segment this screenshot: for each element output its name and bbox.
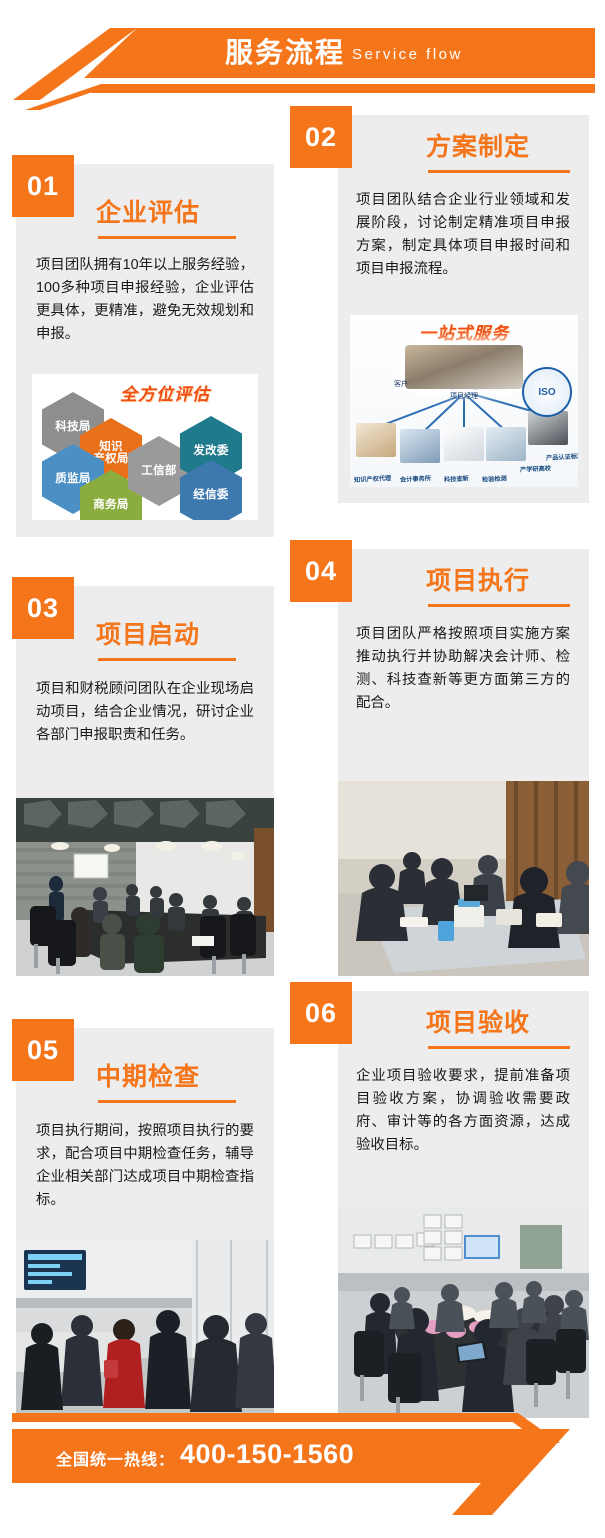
card-body-05: 项目执行期间，按照项目执行的要求，配合项目中期检查任务，辅导企业相关部门达成项目… [36, 1120, 254, 1212]
meeting-room-photo-03 [16, 798, 274, 976]
page-subtitle: Service flow [352, 45, 463, 65]
page-title: 服务流程 [225, 36, 345, 70]
process-card-02: 02 方案制定 项目团队结合企业行业领域和发展阶段，讨论制定精准项目申报方案，制… [338, 115, 589, 503]
service-label-customer: 客户 [394, 379, 408, 389]
service-node-search [444, 427, 484, 461]
service-diagram: 一站式服务 客户 项目经理 ISO 知识产权代理 会计事务所 科技查新 检验检测… [350, 315, 578, 487]
card-photo-06 [338, 1207, 589, 1418]
card-art-01: 全方位评估 科技局 知识 产权局 质监局 商务局 工信部 发改委 经信委 [32, 374, 258, 520]
card-title-01: 企业评估 [96, 198, 200, 228]
card-photo-04 [338, 781, 589, 976]
card-photo-05 [16, 1240, 274, 1418]
iso-seal-icon: ISO [522, 367, 572, 417]
infographic-page: 服务流程 Service flow 01 企业评估 项目团队拥有10年以上服务经… [0, 0, 605, 1538]
card-title-rule-01 [98, 236, 236, 239]
service-diagram-title: 一站式服务 [419, 319, 509, 344]
card-art-02: 一站式服务 客户 项目经理 ISO 知识产权代理 会计事务所 科技查新 检验检测… [350, 315, 578, 487]
hexagon-chart-title: 全方位评估 [120, 380, 210, 405]
service-node-accounting [400, 429, 440, 463]
process-card-03: 03 项目启动 项目和财税顾问团队在企业现场启动项目，结合企业情况，研讨企业各部… [16, 586, 274, 976]
service-foot-label-4: 检验检测 [482, 473, 507, 483]
hexagon-label: 质监局 [55, 473, 90, 486]
boardroom-photo-06 [338, 1207, 589, 1418]
card-title-05: 中期检查 [96, 1062, 200, 1092]
page-header: 服务流程 Service flow [0, 0, 605, 100]
service-foot-label-1: 知识产权代理 [354, 473, 392, 484]
hexagon-label: 经信委 [193, 489, 228, 502]
service-node-ip [356, 423, 396, 457]
service-foot-label-6: 产品认证标准 [546, 451, 578, 462]
card-body-03: 项目和财税顾问团队在企业现场启动项目，结合企业情况，研讨企业各部门申报职责和任务… [36, 678, 254, 747]
hotline-phone-number[interactable]: 400-150-1560 [180, 1439, 354, 1470]
hexagon-label: 发改委 [193, 445, 228, 458]
card-title-rule-04 [428, 604, 570, 607]
hexagon-label: 工信部 [141, 465, 176, 478]
service-foot-label-3: 科技查新 [444, 473, 469, 483]
process-card-06: 06 项目验收 企业项目验收要求，提前准备项目验收方案，协调验收需要政府、审计等… [338, 991, 589, 1418]
card-title-04: 项目执行 [426, 566, 530, 596]
process-card-01: 01 企业评估 项目团队拥有10年以上服务经验，100多种项目申报经验，企业评估… [16, 164, 274, 537]
card-number-badge-06: 06 [290, 982, 352, 1044]
process-card-05: 05 中期检查 项目执行期间，按照项目执行的要求，配合项目中期检查任务，辅导企业… [16, 1028, 274, 1418]
card-number-badge-05: 05 [12, 1019, 74, 1081]
card-number-badge-02: 02 [290, 106, 352, 168]
card-title-06: 项目验收 [426, 1008, 530, 1038]
lobby-visitors-photo-05 [16, 1240, 274, 1418]
service-diagram-hub-photo [405, 345, 523, 389]
card-number-badge-01: 01 [12, 155, 74, 217]
card-title-02: 方案制定 [426, 132, 530, 162]
service-label-manager: 项目经理 [450, 391, 478, 401]
card-title-03: 项目启动 [96, 620, 200, 650]
card-body-02: 项目团队结合企业行业领域和发展阶段，讨论制定精准项目申报方案，制定具体项目申报时… [356, 189, 570, 281]
hexagon-label: 商务局 [93, 499, 128, 512]
hotline-label: 全国统一热线： [56, 1446, 175, 1470]
service-foot-label-2: 会计事务所 [400, 473, 431, 484]
card-title-rule-03 [98, 658, 236, 661]
process-card-04: 04 项目执行 项目团队严格按照项目实施方案推动执行并协助解决会计师、检测、科技… [338, 549, 589, 976]
card-title-rule-06 [428, 1046, 570, 1049]
card-body-04: 项目团队严格按照项目实施方案推动执行并协助解决会计师、检测、科技查新等更方面第三… [356, 623, 570, 715]
hexagon-label: 科技局 [55, 421, 90, 434]
card-number-badge-03: 03 [12, 577, 74, 639]
service-node-testing [486, 427, 526, 461]
page-footer: 全国统一热线： 400-150-1560 [0, 1413, 605, 1533]
card-photo-03 [16, 798, 274, 976]
hexagon-chart: 全方位评估 科技局 知识 产权局 质监局 商务局 工信部 发改委 经信委 [32, 374, 258, 520]
card-title-rule-02 [428, 170, 570, 173]
card-number-badge-04: 04 [290, 540, 352, 602]
service-foot-label-5: 产学研高校 [520, 463, 551, 474]
card-body-06: 企业项目验收要求，提前准备项目验收方案，协调验收需要政府、审计等的各方面资源，达… [356, 1065, 570, 1157]
card-title-rule-05 [98, 1100, 236, 1103]
card-body-01: 项目团队拥有10年以上服务经验，100多种项目申报经验，企业评估更具体，更精准，… [36, 254, 254, 346]
team-discussion-photo-04 [338, 781, 589, 976]
